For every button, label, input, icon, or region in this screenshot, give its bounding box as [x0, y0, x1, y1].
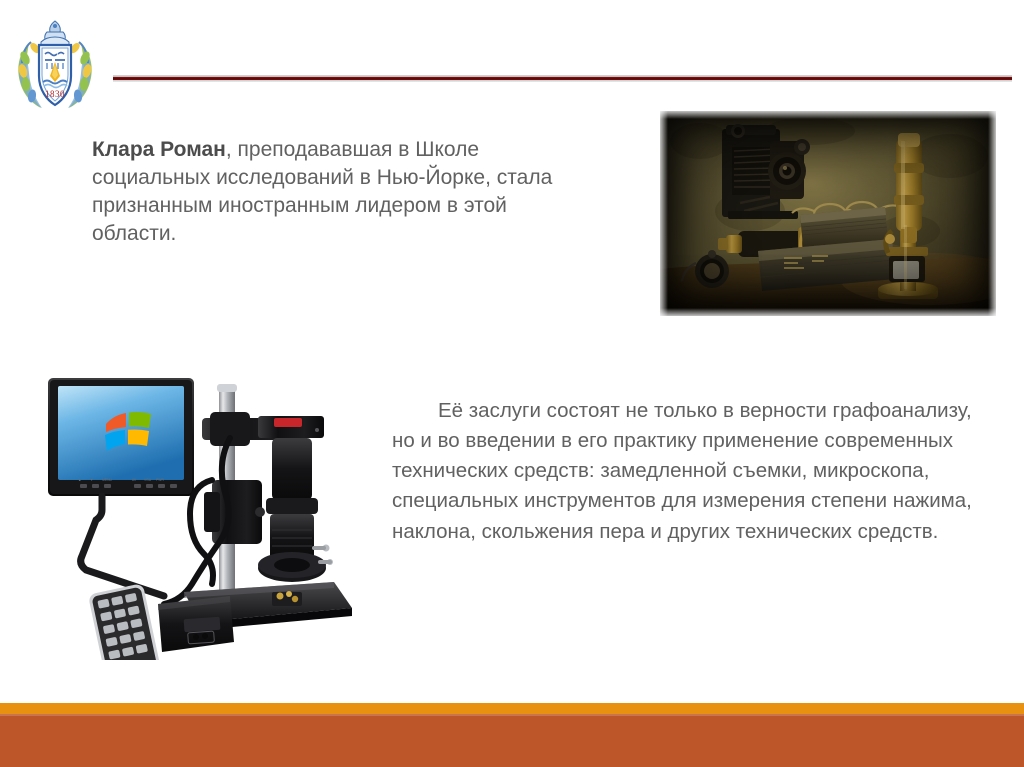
- university-logo: 1830: [11, 18, 99, 110]
- svg-text:VGA: VGA: [144, 478, 152, 482]
- power-adapter-shape: [158, 596, 234, 652]
- svg-text:PWR: PWR: [156, 478, 164, 482]
- vintage-still-life-illustration: [660, 111, 996, 316]
- image-vintage-still-life: [660, 111, 996, 316]
- header-divider-rule: [113, 75, 1012, 82]
- logo-year: 1830: [45, 89, 65, 99]
- coat-of-arms-icon: 1830: [11, 18, 99, 110]
- person-name-highlight: Клара Роман: [92, 138, 226, 161]
- crown-icon: [41, 21, 69, 46]
- paragraph-achievements: Её заслуги состоят не только в верности …: [392, 396, 992, 547]
- slide-canvas: 1830 Клара Роман, преподававшая в Школе …: [0, 0, 1024, 767]
- image-digital-microscope: ▲▼ MENU AVVGA PWR: [34, 360, 364, 660]
- footer-bar: [0, 714, 1024, 767]
- lcd-monitor-shape: ▲▼ MENU AVVGA PWR: [48, 378, 194, 596]
- svg-text:▲: ▲: [78, 478, 81, 482]
- camera-head-shape: [258, 416, 333, 582]
- specimen-sample: [272, 591, 302, 606]
- camera-connector: [274, 418, 302, 427]
- focus-block-shape: [204, 480, 265, 544]
- svg-text:▼: ▼: [90, 478, 93, 482]
- svg-text:AV: AV: [132, 478, 137, 482]
- svg-text:MENU: MENU: [102, 478, 113, 482]
- paragraph-klara-roman: Клара Роман, преподававшая в Школе социа…: [92, 136, 592, 248]
- digital-microscope-illustration: ▲▼ MENU AVVGA PWR: [34, 360, 364, 660]
- footer-accent-bar: [0, 703, 1024, 714]
